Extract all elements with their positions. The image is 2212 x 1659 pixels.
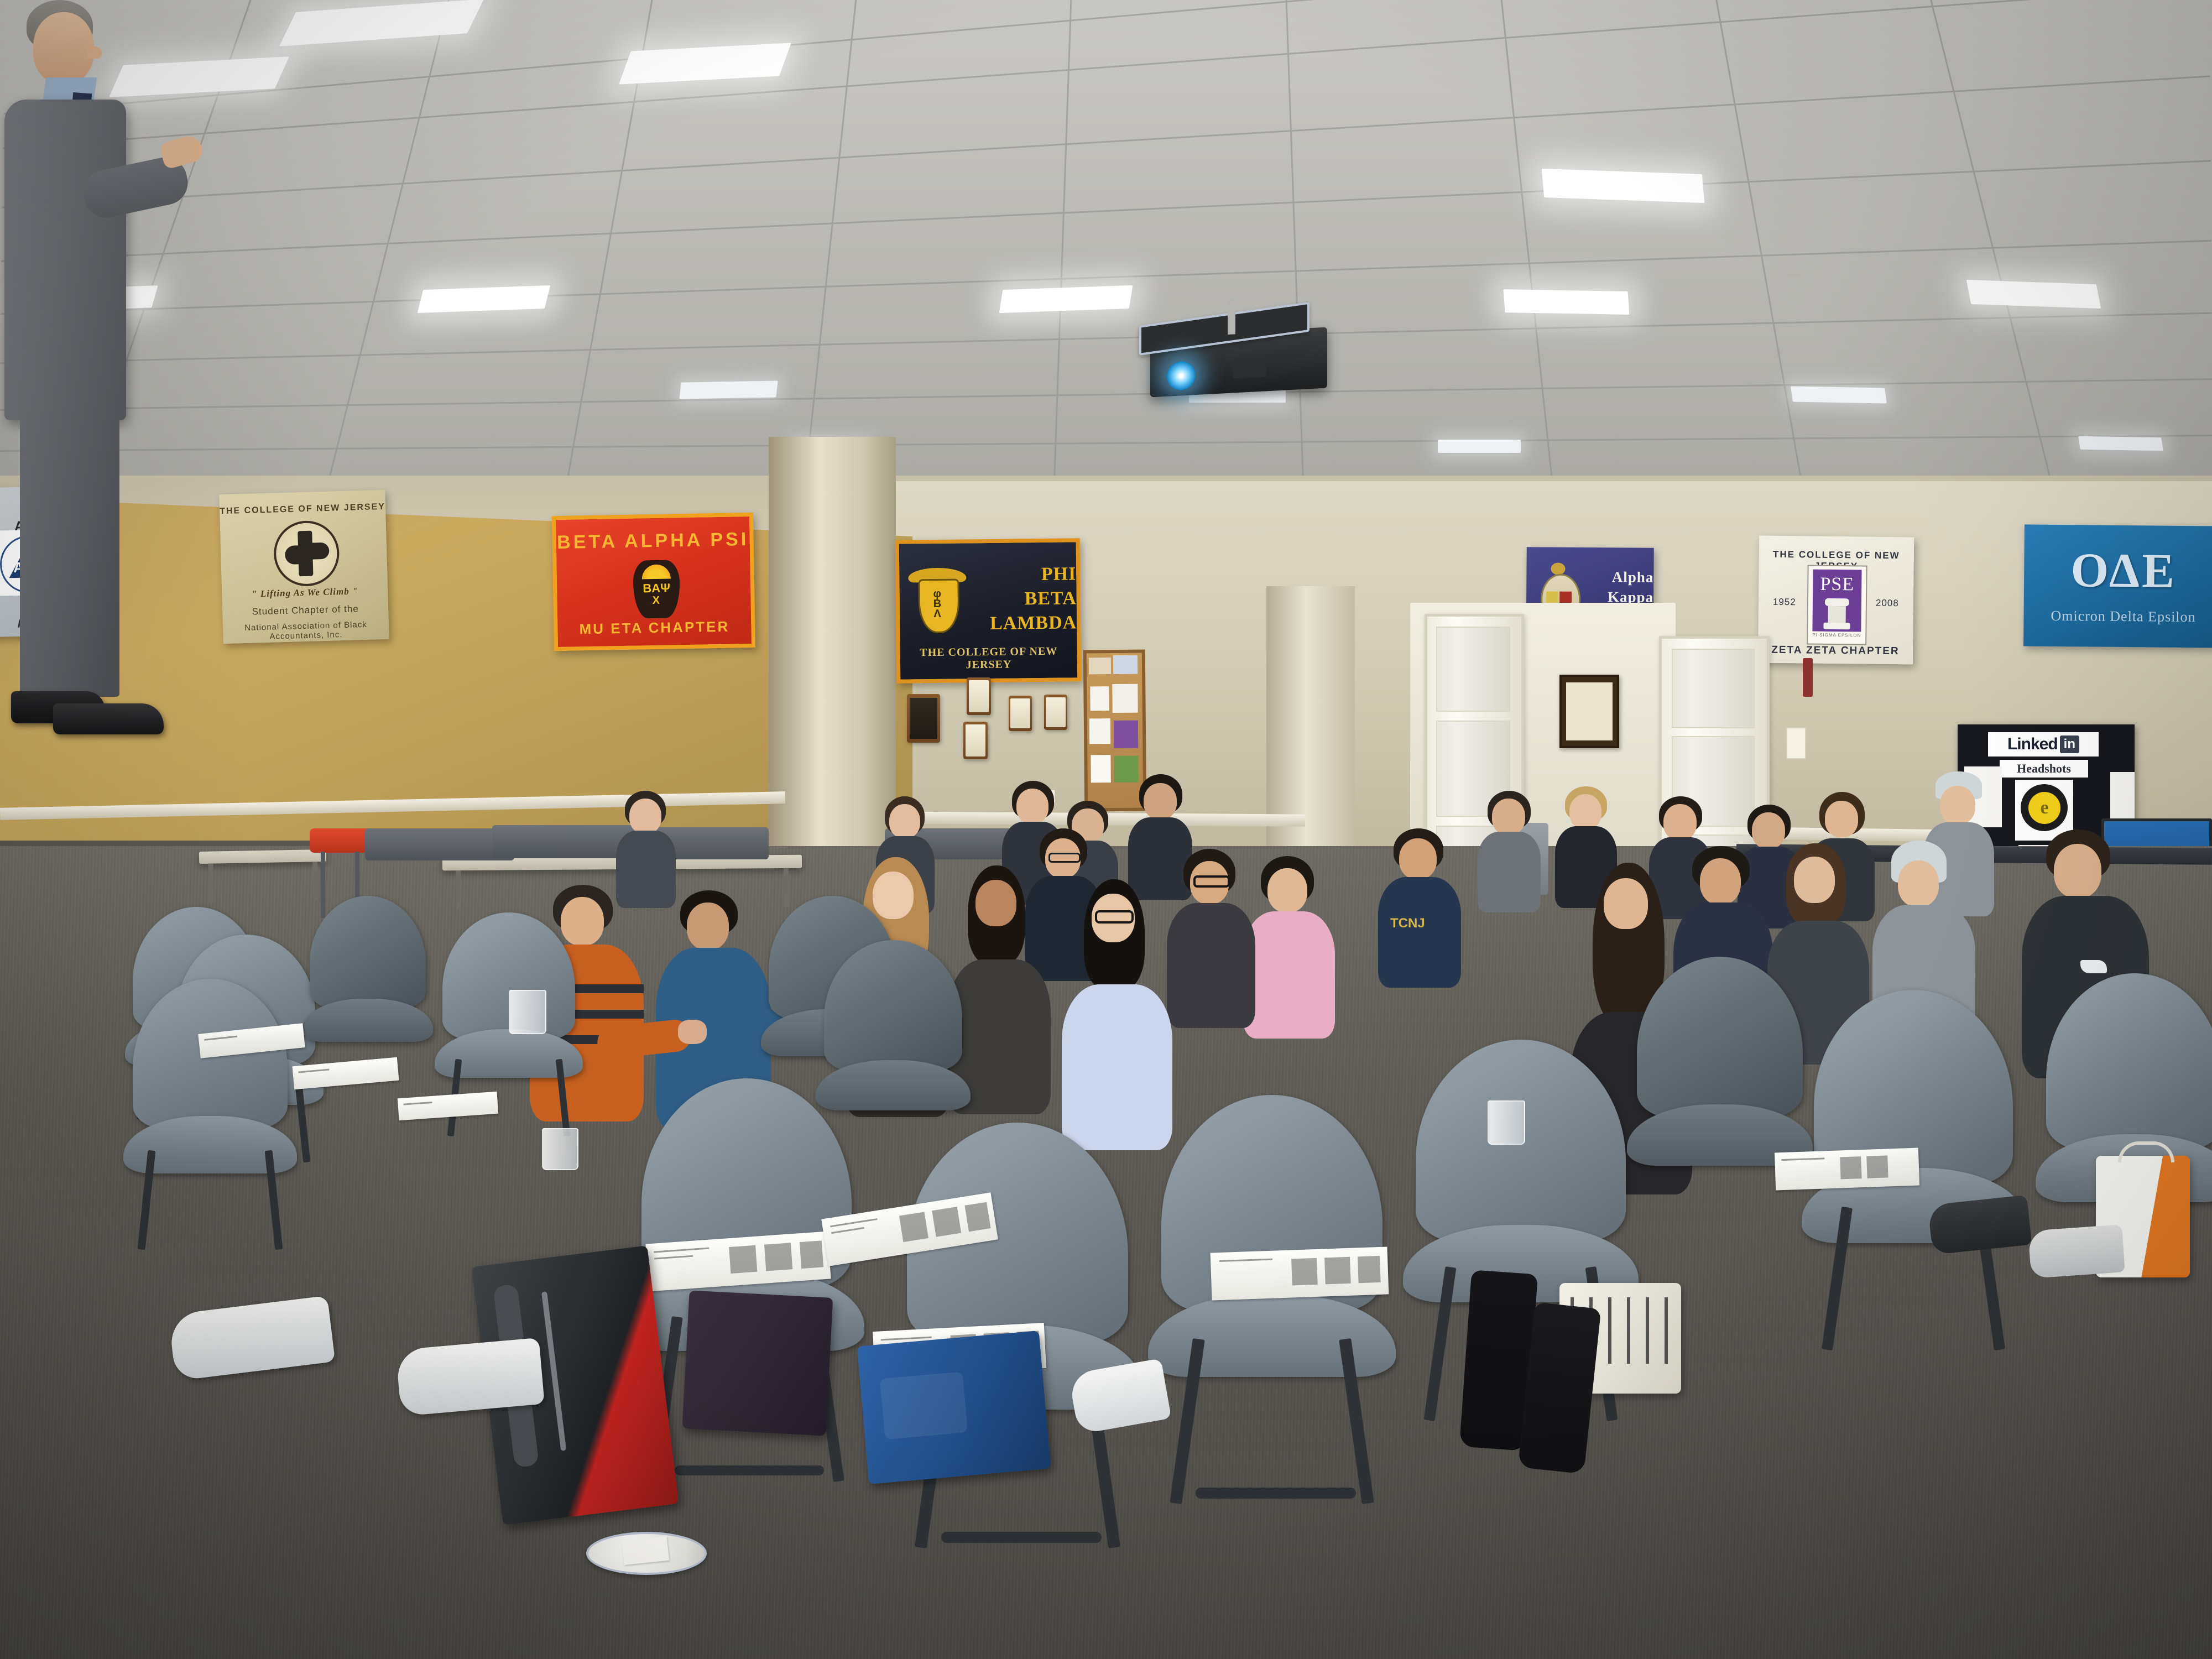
sneaker (1928, 1195, 2032, 1255)
banner-ode-name: Omicron Delta Epsilon (2023, 607, 2212, 625)
banner-pbl-line1: PHI (899, 563, 1081, 587)
ceiling-tile-grid (0, 0, 2212, 498)
ceiling-light (1542, 169, 1705, 203)
banner-omicron-delta-epsilon: ΟΔΕ Omicron Delta Epsilon (2023, 524, 2212, 648)
banner-pbl-line3: LAMBDA (900, 612, 1081, 635)
banner-naba-line4: National Association of Black Accountant… (223, 619, 389, 643)
tcnj-wordmark: TCNJ (1390, 916, 1429, 931)
backpack-blue[interactable] (857, 1331, 1051, 1484)
paper-plate[interactable] (586, 1532, 707, 1575)
ceiling-light (1438, 440, 1521, 453)
drink-cup[interactable] (1488, 1100, 1525, 1145)
board-flyer (2110, 772, 2135, 823)
pse-logo-frame: PSE PI SIGMA EPSILON (1807, 565, 1867, 645)
gear-letter: e (2028, 792, 2060, 824)
pse-year-right: 2008 (1876, 598, 1899, 609)
banner-naba-line3: Student Chapter of the (222, 603, 388, 618)
ceiling-projector (1150, 327, 1327, 398)
presenter-shoe (53, 703, 164, 734)
projector-lens (1167, 361, 1196, 391)
banner-bap-title: BETA ALPHA PSI (556, 529, 750, 554)
naba-seal (273, 520, 340, 587)
headshots-label: Headshots (2000, 760, 2088, 778)
photo-scene: gement Association AMA ...s into Profess… (0, 0, 2212, 1659)
eyeglasses (1193, 875, 1230, 888)
linkedin-wordmark: Linked (2007, 735, 2058, 754)
pse-logo-text: PSE (1813, 574, 1861, 596)
presenter-trousers (20, 409, 119, 697)
banner-naba-motto: " Lifting As We Climb " (222, 585, 388, 601)
sneaker (395, 1338, 544, 1416)
stacking-chair[interactable] (310, 896, 426, 1062)
ceiling-light (679, 380, 778, 399)
ceiling-light (1966, 280, 2101, 309)
eyeglasses (1095, 910, 1134, 924)
certificate-frame (1044, 695, 1067, 730)
pse-logo-caption: PI SIGMA EPSILON (1808, 632, 1865, 638)
drink-cup[interactable] (542, 1128, 578, 1170)
bap-crest-letters: BAΨ (633, 581, 680, 596)
presenter-head (33, 12, 94, 84)
ceiling-light (418, 285, 550, 313)
cork-bulletin-board[interactable] (1083, 650, 1147, 812)
backpack-zipper (541, 1291, 566, 1451)
napkin (622, 1536, 669, 1565)
banner-pbl-college: THE COLLEGE OF NEW JERSEY (900, 645, 1077, 672)
bap-crest: BAΨ X (633, 560, 680, 618)
projector-pole (1228, 299, 1235, 335)
backpack-dark[interactable] (682, 1290, 833, 1436)
door-hinge-strip (1803, 658, 1813, 697)
award-plaque (967, 677, 991, 715)
folding-table (199, 849, 326, 864)
smoke-detector (1786, 271, 1802, 276)
ceiling-light (999, 285, 1133, 313)
ceiling-light (1791, 387, 1887, 404)
backpack-pocket (880, 1371, 968, 1439)
eyeglasses (1048, 853, 1081, 863)
certificate-frame (1009, 696, 1032, 731)
banner-phi-beta-lambda: φΒΛ PHI BETA LAMBDA THE COLLEGE OF NEW J… (895, 538, 1082, 683)
banner-ode-greek: ΟΔΕ (2024, 542, 2212, 599)
presenter-nose (87, 46, 102, 59)
award-plaque (963, 722, 988, 759)
handout[interactable] (1211, 1246, 1389, 1300)
presenter-suit-jacket (4, 100, 126, 420)
jacket-logo (2080, 960, 2107, 973)
hand (678, 1020, 707, 1044)
framed-picture (1559, 675, 1619, 748)
handout[interactable] (1775, 1147, 1919, 1190)
banner-naba-college: THE COLLEGE OF NEW JERSEY (220, 502, 385, 517)
sneaker (2028, 1224, 2125, 1279)
stacking-chair[interactable] (133, 979, 288, 1200)
ceiling-light (1504, 289, 1630, 315)
banner-bap-chapter: MU ETA CHAPTER (557, 618, 751, 638)
drink-cup[interactable] (509, 990, 546, 1034)
banner-pbl-line2: BETA (900, 587, 1082, 611)
banner-pi-sigma-epsilon: THE COLLEGE OF NEW JERSEY PSE PI SIGMA E… (1758, 536, 1914, 665)
wall-column (769, 437, 896, 890)
name-plaque-board (907, 694, 940, 743)
banner-beta-alpha-psi: BETA ALPHA PSI BAΨ X MU ETA CHAPTER (552, 513, 755, 651)
ceiling-light (2078, 436, 2163, 451)
banner-akp-line1: Alpha (1526, 568, 1653, 586)
projector-vent (1233, 362, 1266, 378)
red-stool (310, 828, 371, 853)
pse-year-left: 1952 (1773, 597, 1796, 608)
stacked-chairs (492, 825, 636, 858)
linkedin-logo: Linked in (1988, 732, 2099, 757)
linkedin-in-box: in (2060, 735, 2079, 753)
banner-naba: THE COLLEGE OF NEW JERSEY " Lifting As W… (219, 490, 389, 644)
wall-sign (1786, 727, 1806, 759)
ceiling (0, 0, 2212, 498)
banner-pse-chapter: ZETA ZETA CHAPTER (1758, 644, 1913, 658)
